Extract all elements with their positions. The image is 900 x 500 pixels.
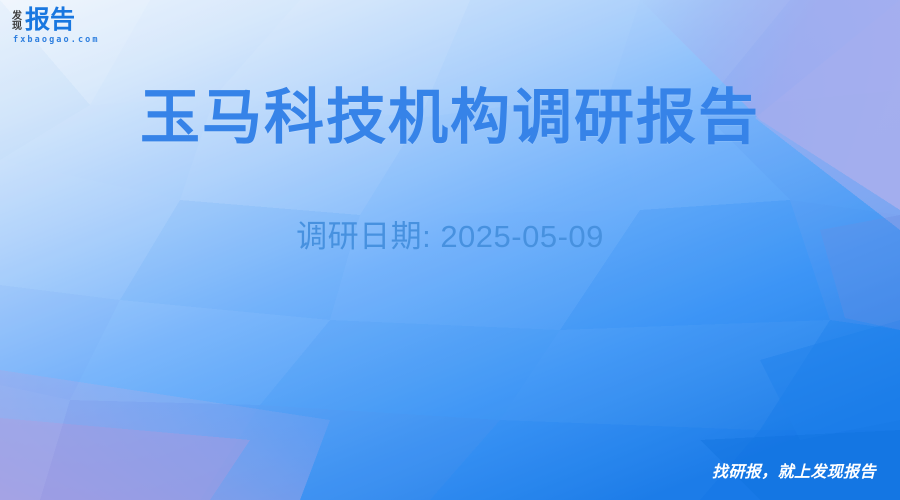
logo-wordmark: 报告: [25, 8, 75, 33]
report-cover-page: 发 现 报告 fxbaogao.com 玉马科技机构调研报告 调研日期: 202…: [0, 0, 900, 500]
brand-logo[interactable]: 发 现 报告 fxbaogao.com: [12, 8, 100, 45]
logo-char-xian: 现: [12, 22, 22, 32]
logo-domain-text: fxbaogao.com: [13, 35, 100, 45]
cover-center-block: 玉马科技机构调研报告 调研日期: 2025-05-09: [0, 84, 900, 256]
logo-wordmark-row: 发 现 报告: [12, 8, 75, 33]
logo-stacked-characters: 发 现: [12, 12, 22, 33]
footer-tagline: 找研报，就上发现报告: [712, 458, 876, 482]
page-title: 玉马科技机构调研报告: [0, 84, 900, 151]
survey-date-subtitle: 调研日期: 2025-05-09: [0, 211, 900, 256]
